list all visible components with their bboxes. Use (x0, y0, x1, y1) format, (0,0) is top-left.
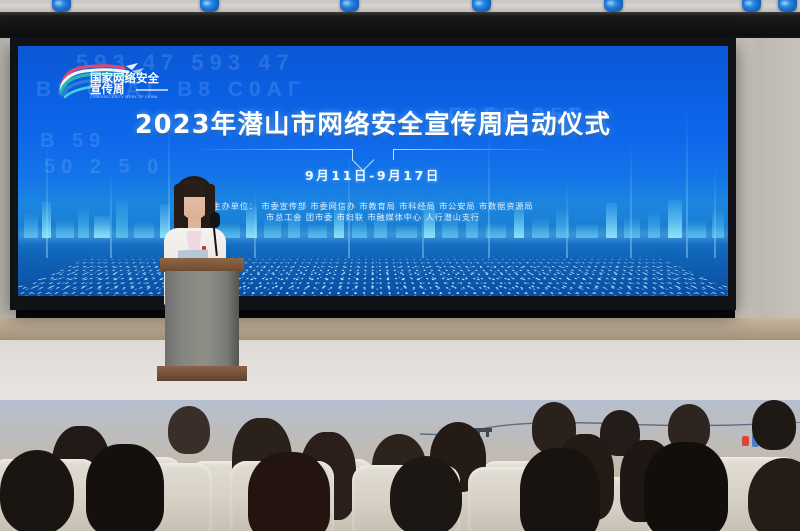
audience-head-long-hair (520, 448, 600, 531)
ceiling-spotlight (742, 0, 761, 12)
logo-subtext: CYBERSECURITY WEEK OF CHINA (90, 95, 158, 99)
chevron-down-icon (352, 149, 394, 160)
title-divider (192, 146, 554, 160)
stage-wainscot (0, 318, 800, 342)
podium-body (165, 271, 239, 367)
ceiling-spotlight (472, 0, 491, 12)
red-cup (742, 436, 749, 446)
ceiling-spotlight (604, 0, 623, 12)
audience-head (168, 406, 210, 454)
microphone-icon (210, 212, 220, 228)
led-screen: 593 47 593 47 B8 C0AΓ B8 C0AΓ Γ25F 25F B… (18, 46, 728, 296)
divider-line-left (192, 149, 352, 150)
audience-head (0, 450, 74, 531)
ceiling-spotlight (340, 0, 359, 12)
conference-hall-scene: 593 47 593 47 B8 C0AΓ B8 C0AΓ Γ25F 25F B… (0, 0, 800, 531)
audience-head-long-hair (644, 442, 728, 531)
organizers-block: 主办单位： 市委宣传部 市委网信办 市教育局 市科经局 市公安局 市数据资源局 … (18, 201, 728, 223)
podium-top (160, 258, 244, 272)
ceiling-spotlight (200, 0, 219, 12)
screen-main-title: 2023年潜山市网络安全宣传周启动仪式 (18, 104, 728, 141)
audience-area (0, 400, 800, 531)
audience-head-long-hair (86, 444, 164, 531)
logo-text-line2: 宣传周 (90, 82, 125, 96)
podium-base (157, 366, 247, 381)
wall-right (735, 38, 800, 343)
audience-head (752, 400, 796, 450)
organizers-line-1: 主办单位： 市委宣传部 市委网信办 市教育局 市科经局 市公安局 市数据资源局 (18, 201, 728, 212)
national-cybersecurity-week-logo: 国家网络安全 宣传周 CYBERSECURITY WEEK OF CHINA (58, 60, 174, 104)
ceiling-spotlight (52, 0, 71, 12)
divider-line-right (394, 149, 554, 150)
organizers-line-2: 市总工会 团市委 市妇联 市融媒体中心 人行潜山支行 (18, 212, 728, 223)
audience-head-long-hair (248, 452, 330, 531)
audience-head (390, 456, 462, 531)
ceiling-spotlight (778, 0, 797, 12)
screen-date-range: 9月11日-9月17日 (18, 165, 728, 184)
